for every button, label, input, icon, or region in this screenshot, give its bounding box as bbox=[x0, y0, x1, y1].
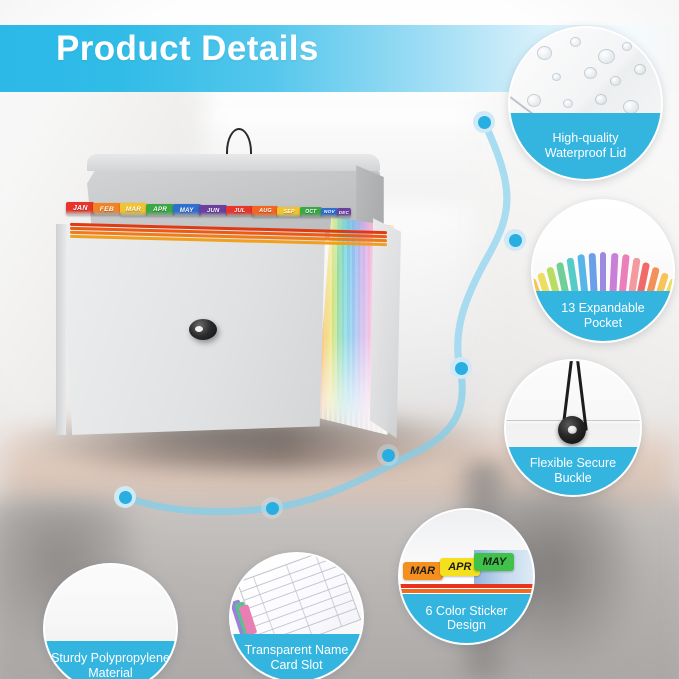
sticker-band-red bbox=[400, 584, 533, 588]
water-drop-icon bbox=[622, 42, 632, 51]
feature-circle-sticker-design[interactable]: MAR APR MAY 6 Color Sticker Design bbox=[398, 508, 535, 645]
connector-dot-6 bbox=[114, 486, 136, 508]
product-month-tab-may: MAY bbox=[173, 204, 201, 216]
product-month-tab-nov: NOV bbox=[321, 208, 339, 218]
water-drop-icon bbox=[598, 49, 615, 64]
sticker-band-orange bbox=[400, 589, 533, 593]
product-month-tab-mar: MAR bbox=[120, 203, 148, 215]
feature-caption-line: Design bbox=[426, 618, 508, 633]
product-lid-top-edge bbox=[87, 154, 380, 171]
product-details-infographic: Product Details JANF bbox=[0, 0, 679, 679]
feature-circle-expandable-pocket[interactable]: 13 Expandable Pocket bbox=[531, 199, 675, 343]
sticker-may: MAY bbox=[474, 553, 514, 572]
product-image: JANFEBMARAPRMAYJUNJULAUGSEPOCTNOVDEC bbox=[56, 128, 401, 458]
feature-caption-band: Flexible Secure Buckle bbox=[506, 447, 640, 495]
product-month-tab-jan: JAN bbox=[66, 202, 94, 215]
product-month-tab-apr: APR bbox=[146, 204, 174, 216]
water-drop-icon bbox=[527, 94, 541, 107]
water-drop-icon bbox=[552, 73, 561, 81]
feature-circle-polypropylene-material[interactable]: Sturdy Polypropylene Material bbox=[43, 563, 178, 679]
feature-caption-line: Transparent Name bbox=[245, 643, 349, 658]
connector-dot-5 bbox=[261, 497, 283, 519]
page-title: Product Details bbox=[56, 29, 319, 69]
feature-circle-name-card-slot[interactable]: Transparent Name Card Slot bbox=[229, 552, 364, 679]
feature-caption-band: Sturdy Polypropylene Material bbox=[45, 641, 176, 679]
product-month-tab-jun: JUN bbox=[199, 205, 227, 216]
sticker-mar: MAR bbox=[403, 562, 443, 581]
product-month-tab-row: JANFEBMARAPRMAYJUNJULAUGSEPOCTNOVDEC bbox=[66, 202, 390, 248]
connector-dot-3 bbox=[450, 357, 472, 379]
feature-caption-line: 6 Color Sticker bbox=[426, 604, 508, 619]
feature-caption-band: Transparent Name Card Slot bbox=[231, 634, 362, 679]
product-month-tab-oct: OCT bbox=[300, 207, 322, 217]
feature-circle-waterproof-lid[interactable]: High-quality Waterproof Lid bbox=[508, 26, 663, 181]
feature-circle-secure-buckle[interactable]: Flexible Secure Buckle bbox=[504, 359, 642, 497]
product-front-left-edge bbox=[56, 224, 66, 435]
feature-caption-line: Waterproof Lid bbox=[545, 146, 627, 161]
feature-caption-line: High-quality bbox=[545, 131, 627, 146]
feature-caption-band: 6 Color Sticker Design bbox=[400, 594, 533, 643]
feature-caption-line: Flexible Secure bbox=[530, 456, 616, 471]
product-month-tab-sep: SEP bbox=[277, 207, 301, 217]
water-drop-icon bbox=[634, 64, 646, 75]
water-drop-icon bbox=[563, 99, 573, 108]
feature-caption-line: Pocket bbox=[561, 316, 644, 331]
feature-caption-line: Buckle bbox=[530, 471, 616, 486]
feature-caption-line: 13 Expandable bbox=[561, 301, 644, 316]
feature-caption-band: 13 Expandable Pocket bbox=[533, 291, 673, 341]
water-drop-icon bbox=[584, 67, 597, 79]
product-month-tab-feb: FEB bbox=[93, 203, 121, 216]
product-month-tab-dec: DEC bbox=[337, 208, 351, 217]
feature-caption-line: Sturdy Polypropylene bbox=[51, 651, 170, 666]
water-drop-icon bbox=[570, 37, 581, 47]
product-month-tab-jul: JUL bbox=[226, 206, 254, 217]
water-drop-icon bbox=[537, 46, 552, 60]
connector-dot-2 bbox=[504, 229, 526, 251]
feature-caption-band: High-quality Waterproof Lid bbox=[510, 113, 661, 179]
feature-caption-line: Material bbox=[51, 666, 170, 679]
connector-dot-1 bbox=[473, 111, 495, 133]
product-month-tab-aug: AUG bbox=[252, 206, 278, 217]
buckle-button-icon bbox=[558, 416, 586, 444]
feature-caption-line: Card Slot bbox=[245, 658, 349, 673]
water-drop-icon bbox=[595, 94, 607, 105]
water-drop-icon bbox=[610, 76, 621, 86]
